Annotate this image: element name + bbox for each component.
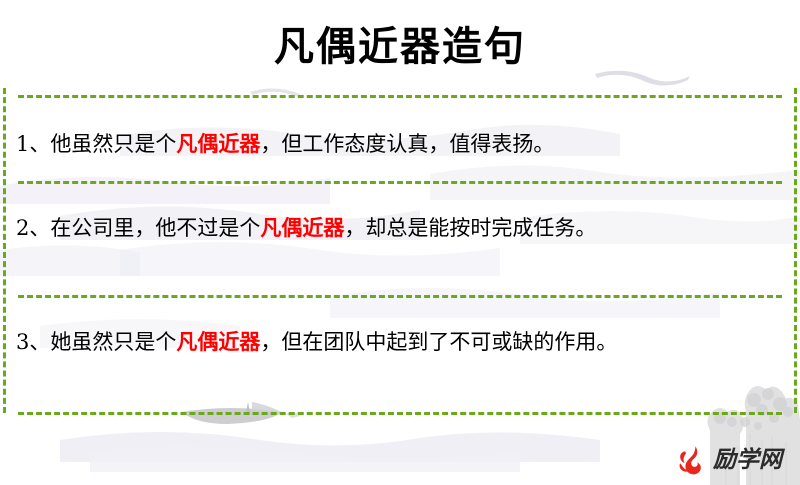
sentence-3-before: 她虽然只是个	[50, 330, 176, 354]
sentence-2-after: ，却总是能按时完成任务。	[344, 216, 596, 240]
sentence-1-keyword: 凡偶近器	[176, 131, 260, 156]
sentence-example-page: 凡偶近器造句 1、他虽然只是个凡偶近器，但工作态度认真，值得表扬。 2、在公司里…	[0, 0, 800, 485]
sentence-3-index: 3、	[16, 330, 50, 354]
divider-bottom	[18, 412, 782, 415]
flame-swirl-icon	[675, 444, 707, 476]
sentence-item-1: 1、他虽然只是个凡偶近器，但工作态度认真，值得表扬。	[16, 124, 774, 164]
sentence-1-before: 他虽然只是个	[50, 132, 176, 156]
sentence-1-index: 1、	[16, 132, 50, 156]
sentence-item-2: 2、在公司里，他不过是个凡偶近器，却总是能按时完成任务。	[16, 208, 774, 248]
frame-border-left	[3, 88, 6, 413]
page-title: 凡偶近器造句	[0, 14, 800, 72]
frame-border-right	[794, 88, 797, 413]
sentence-2-index: 2、	[16, 216, 50, 240]
divider-top	[18, 95, 782, 98]
logo-text: 励学网	[713, 449, 782, 472]
divider-1	[18, 181, 782, 184]
site-logo[interactable]: 励学网	[675, 443, 782, 477]
sentence-item-3: 3、她虽然只是个凡偶近器，但在团队中起到了不可或缺的作用。	[16, 322, 774, 362]
sentence-3-keyword: 凡偶近器	[176, 329, 260, 354]
sentence-2-before: 在公司里，他不过是个	[50, 216, 260, 240]
divider-2	[18, 295, 782, 298]
sentence-2-keyword: 凡偶近器	[260, 215, 344, 240]
sentence-3-after: ，但在团队中起到了不可或缺的作用。	[260, 330, 617, 354]
sentence-1-after: ，但工作态度认真，值得表扬。	[260, 132, 554, 156]
